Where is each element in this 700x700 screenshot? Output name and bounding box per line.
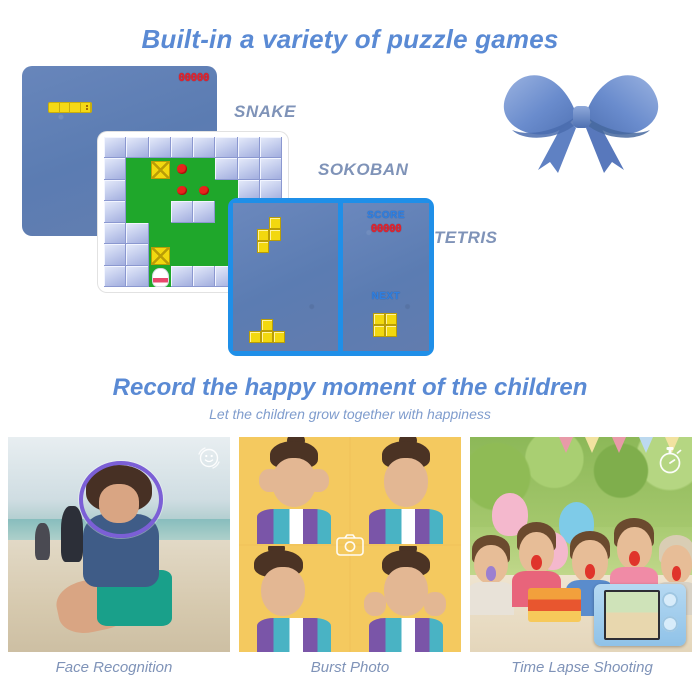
- bunting-flag: [639, 437, 653, 453]
- photos-section-subtitle: Let the children grow together with happ…: [0, 406, 700, 422]
- game-label-tetris: TETRIS: [434, 228, 497, 248]
- tetris-next-block: [373, 313, 385, 325]
- ribbon-bow-icon: [488, 58, 673, 173]
- tetris-sidebar: SCORE 00000 NEXT: [343, 203, 429, 351]
- games-section-title: Built-in a variety of puzzle games: [0, 24, 700, 55]
- face-detection-ring: [79, 461, 163, 538]
- burst-frame: [239, 546, 349, 653]
- tetris-next-block: [385, 325, 397, 337]
- tetris-game-screen: SCORE 00000 NEXT: [228, 198, 434, 356]
- mini-camera-button: [662, 616, 678, 632]
- photo-card-face-recognition: [8, 437, 230, 652]
- photo-card-burst-photo: [239, 437, 461, 652]
- mini-camera-device: [594, 584, 686, 646]
- photo-caption-time-lapse: Time Lapse Shooting: [464, 659, 700, 676]
- tetris-block: [257, 229, 269, 241]
- tetris-block: [261, 331, 273, 343]
- tetris-block: [273, 331, 285, 343]
- background-person: [35, 523, 51, 560]
- camera-icon: [335, 532, 365, 558]
- mini-camera-screen: [604, 590, 660, 640]
- bunting-flag: [559, 437, 573, 453]
- game-label-sokoban: SOKOBAN: [318, 160, 408, 180]
- tetris-block: [249, 331, 261, 343]
- tetris-next-label: NEXT: [343, 291, 429, 302]
- photos-section: Record the happy moment of the children …: [0, 365, 700, 700]
- burst-frame: [351, 546, 461, 653]
- photo-card-time-lapse: [470, 437, 692, 652]
- stopwatch-icon: [656, 445, 684, 475]
- snake-eye-icon: [86, 108, 88, 110]
- mini-camera-dpad: [662, 592, 678, 608]
- sokoban-player: [149, 266, 171, 287]
- tetris-score-value: 00000: [343, 222, 429, 235]
- sokoban-target: [171, 158, 193, 179]
- burst-frame: [351, 437, 461, 544]
- party-kid: [474, 545, 507, 610]
- background-person: [61, 506, 83, 562]
- burst-frame: [239, 437, 349, 544]
- puzzle-games-section: Built-in a variety of puzzle games 00000: [0, 0, 700, 365]
- tetris-block: [261, 319, 273, 331]
- birthday-cake: [528, 588, 581, 622]
- photo-caption-face-recognition: Face Recognition: [0, 659, 228, 676]
- sokoban-crate: [149, 244, 171, 265]
- snake-eye-icon: [86, 105, 88, 107]
- smiley-face-icon: [196, 445, 222, 471]
- tetris-block: [257, 241, 269, 253]
- bunting-flag: [612, 437, 626, 453]
- photos-section-title: Record the happy moment of the children: [0, 374, 700, 402]
- sokoban-crate: [149, 158, 171, 179]
- tetris-block: [269, 217, 281, 229]
- photo-caption-burst-photo: Burst Photo: [236, 659, 464, 676]
- sokoban-target: [171, 180, 193, 201]
- game-label-snake: SNAKE: [234, 102, 296, 122]
- tetris-next-block: [373, 325, 385, 337]
- tetris-block: [269, 229, 281, 241]
- sokoban-target: [193, 180, 215, 201]
- snake-body: [48, 102, 92, 113]
- tetris-playfield: [233, 203, 338, 351]
- tetris-next-block: [385, 313, 397, 325]
- tetris-score-label: SCORE: [343, 210, 429, 221]
- snake-score-value: 00000: [178, 71, 209, 84]
- photo-card-row: [8, 437, 692, 652]
- bunting-flag: [585, 437, 599, 453]
